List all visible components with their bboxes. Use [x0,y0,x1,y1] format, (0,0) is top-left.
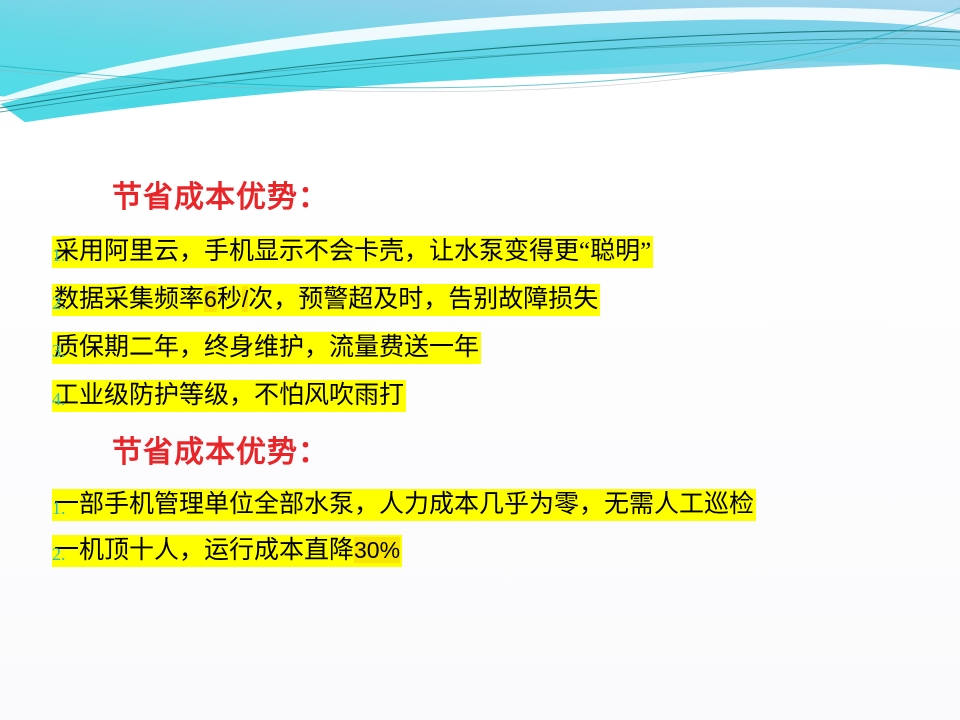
text-run-mid: 秒 [217,286,242,313]
text-run-pre: 数据采集频率 [54,286,204,313]
section-1-list: 1. 采用阿里云，手机显示不会卡壳，让水泵变得更“聪明” 2. 数据采集频率6秒… [0,228,960,420]
list-item-text: 采用阿里云，手机显示不会卡壳，让水泵变得更“聪明” [52,236,653,269]
list-item: 1. 一部手机管理单位全部水泵，人力成本几乎为零，无需人工巡检 [0,482,960,528]
text-run-post: 次，预警超及时，告别故障损失 [248,286,598,313]
text-run-highlight: 6 [204,286,217,312]
section-1-heading: 节省成本优势： [112,172,329,216]
list-item: 3. 质保期二年，终身维护，流量费送一年 [0,324,960,372]
list-marker: 2. [0,545,52,563]
text-run-highlight: 30% [354,537,400,563]
slide-content: 节省成本优势： 1. 采用阿里云，手机显示不会卡壳，让水泵变得更“聪明” 2. … [0,0,960,720]
section-2-list: 1. 一部手机管理单位全部水泵，人力成本几乎为零，无需人工巡检 2. 一机顶十人… [0,482,960,574]
list-item-text: 一部手机管理单位全部水泵，人力成本几乎为零，无需人工巡检 [52,489,756,522]
list-item-text: 质保期二年，终身维护，流量费送一年 [52,332,481,365]
list-item-text: 工业级防护等级，不怕风吹雨打 [52,380,406,413]
list-marker: 1. [0,499,52,517]
section-2-heading: 节省成本优势： [112,427,329,471]
slide-canvas: 节省成本优势： 1. 采用阿里云，手机显示不会卡壳，让水泵变得更“聪明” 2. … [0,0,960,720]
list-marker: 3. [0,342,52,360]
list-item-text: 一机顶十人，运行成本直降30% [52,535,402,568]
list-item: 4. 工业级防护等级，不怕风吹雨打 [0,372,960,420]
list-item-text: 数据采集频率6秒/次，预警超及时，告别故障损失 [52,284,600,317]
list-item: 2. 一机顶十人，运行成本直降30% [0,528,960,574]
list-marker: 4. [0,390,52,408]
list-marker: 2. [0,294,52,312]
list-item: 1. 采用阿里云，手机显示不会卡壳，让水泵变得更“聪明” [0,228,960,276]
text-run-pre: 一机顶十人，运行成本直降 [54,537,354,564]
list-marker: 1. [0,246,52,264]
list-item: 2. 数据采集频率6秒/次，预警超及时，告别故障损失 [0,276,960,324]
